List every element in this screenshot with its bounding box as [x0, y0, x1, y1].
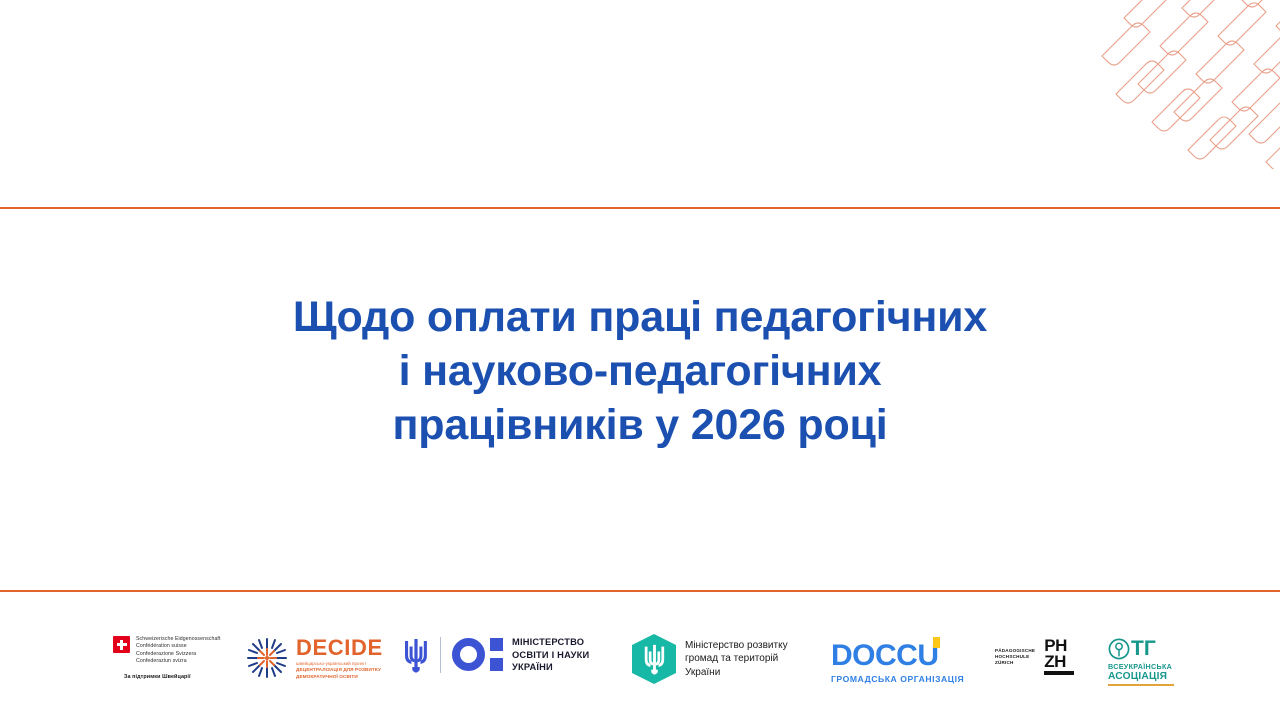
otg-subtitle-line-2: АСОЦІАЦІЯ	[1108, 671, 1167, 683]
swiss-name-it: Confederazione Svizzera	[136, 651, 221, 658]
mrgt-hexagon-badge	[632, 634, 676, 684]
partner-logo-strip: Schweizerische Eidgenossenschaft Confédé…	[0, 620, 1280, 710]
presentation-slide: Щодо оплати праці педагогічних і науково…	[0, 0, 1280, 720]
ukraine-trident-icon	[643, 643, 666, 675]
logo-decide: DECIDE швейцарсько-український проект ДЕ…	[245, 636, 383, 680]
decide-subtitle: швейцарсько-український проект	[296, 661, 383, 666]
phzh-monogram: PH ZH	[1044, 638, 1074, 675]
logo-otg-association: ТГ ВСЕУКРАЇНСЬКА АСОЦІАЦІЯ	[1108, 638, 1174, 686]
logo-doccu: DOCCU ГРОМАДСЬКА ОРГАНІЗАЦІЯ	[831, 640, 964, 684]
mrgt-line-1: Міністерство розвитку	[685, 639, 788, 653]
swiss-name-de: Schweizerische Eidgenossenschaft	[136, 636, 221, 643]
phzh-underline-bar	[1044, 671, 1074, 675]
top-divider-rule	[0, 207, 1280, 209]
decide-tagline-line-2: ДЕМОКРАТИЧНОЇ ОСВІТИ	[296, 674, 383, 681]
swiss-name-rm: Confederaziun svizra	[136, 658, 221, 665]
mon-line-1: МІНІСТЕРСТВО	[512, 636, 589, 649]
swiss-name-fr: Confédération suisse	[136, 643, 221, 650]
title-line-2: і науково-педагогічних	[0, 344, 1280, 398]
logo-phzh: PÄDAGOGISCHE HOCHSCHULE ZÜRICH PH ZH	[995, 638, 1074, 675]
doccu-wordmark-accent: U	[917, 639, 938, 672]
decorative-chevron-pattern	[1094, 0, 1280, 169]
phzh-small-line-3: ZÜRICH	[995, 660, 1035, 666]
title-line-1: Щодо оплати праці педагогічних	[0, 290, 1280, 344]
decide-mandala-icon	[245, 636, 289, 680]
otg-subtitle-line-1: ВСЕУКРАЇНСЬКА	[1108, 662, 1172, 671]
logo-divider	[440, 637, 441, 673]
logo-ministry-of-communities: Міністерство розвитку громад та територі…	[632, 634, 788, 684]
phzh-monogram-line-2: ZH	[1044, 654, 1074, 670]
decide-tagline-line-1: ДЕЦЕНТРАЛІЗАЦІЯ ДЛЯ РОЗВИТКУ	[296, 667, 383, 674]
mrgt-line-2: громад та територій	[685, 652, 788, 666]
doccu-wordmark-main: DOCC	[831, 639, 917, 672]
mon-emblem-icon	[452, 638, 503, 671]
phzh-small-line-1: PÄDAGOGISCHE	[995, 648, 1035, 654]
page-title: Щодо оплати праці педагогічних і науково…	[0, 290, 1280, 452]
mrgt-line-3: України	[685, 666, 788, 680]
ukraine-trident-icon	[403, 637, 429, 673]
swiss-support-tagline: За підтримки Швейцарії	[124, 674, 191, 680]
logo-swiss-confederation: Schweizerische Eidgenossenschaft Confédé…	[113, 636, 221, 680]
otg-circle-icon	[1108, 638, 1130, 660]
decide-wordmark: DECIDE	[296, 636, 383, 659]
otg-underline-bar	[1108, 684, 1174, 686]
bottom-divider-rule	[0, 590, 1280, 592]
logo-ministry-of-education: МІНІСТЕРСТВО ОСВІТИ І НАУКИ УКРАЇНИ	[403, 636, 589, 674]
title-line-3: працівників у 2026 році	[0, 398, 1280, 452]
doccu-subtitle: ГРОМАДСЬКА ОРГАНІЗАЦІЯ	[831, 674, 964, 684]
mon-line-3: УКРАЇНИ	[512, 661, 589, 674]
otg-wordmark: ТГ	[1131, 638, 1156, 660]
swiss-flag-icon	[113, 636, 130, 653]
mon-line-2: ОСВІТИ І НАУКИ	[512, 649, 589, 662]
